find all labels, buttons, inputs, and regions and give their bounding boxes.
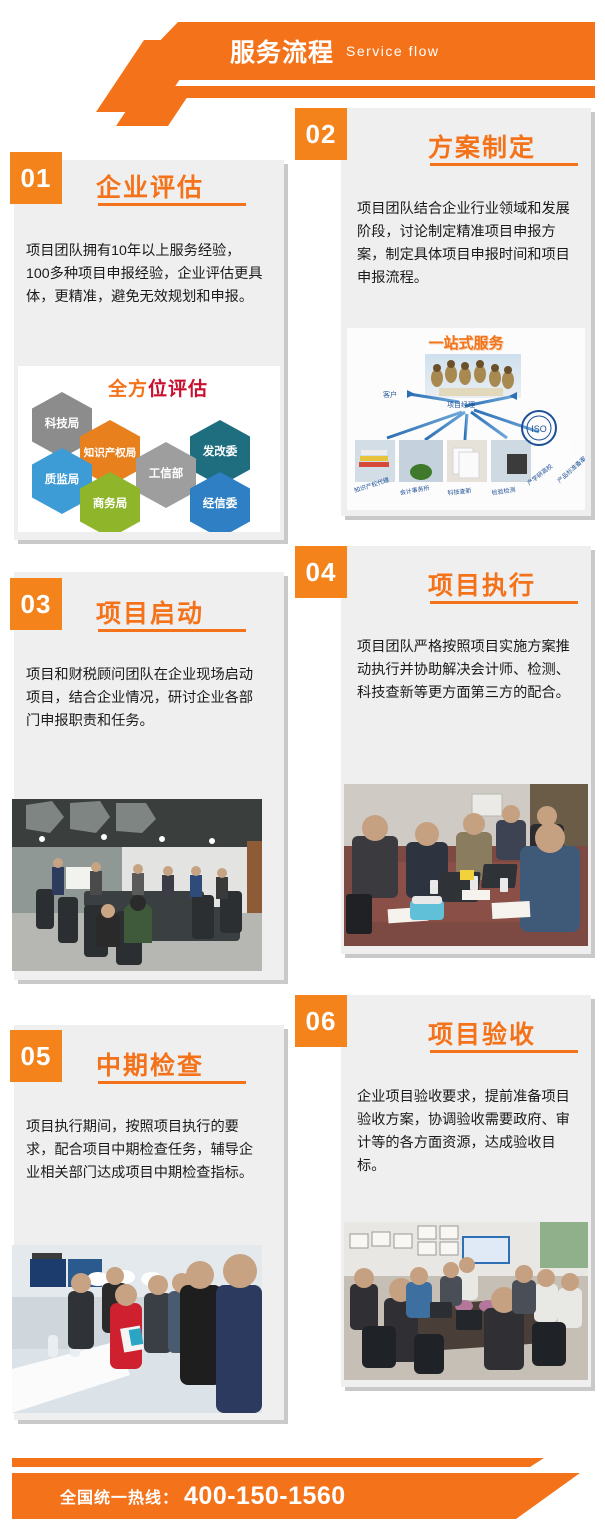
- card-01-title: 企业评估: [96, 168, 204, 204]
- card-02-title-rule: [430, 163, 578, 166]
- card-01-description: 项目团队拥有10年以上服务经验，100多种项目申报经验，企业评估更具体，更精准，…: [26, 240, 264, 309]
- page-footer: 全国统一热线： 400-150-1560: [0, 1418, 605, 1538]
- header-banner: 服务流程 Service flow: [130, 22, 595, 80]
- footer-hotline: 全国统一热线： 400-150-1560: [60, 1473, 346, 1519]
- svg-text:ISO: ISO: [531, 424, 547, 434]
- card-02-number-badge: 02: [295, 108, 347, 160]
- hex-title-part1: 全方: [108, 379, 148, 400]
- card-01-title-rule: [98, 203, 246, 206]
- card-02-description: 项目团队结合企业行业领域和发展阶段，讨论制定精准项目申报方案，制定具体项目申报时…: [357, 198, 579, 290]
- photo-acceptance-meeting: [344, 1222, 588, 1380]
- card-06-number-badge: 06: [295, 995, 347, 1047]
- onestop-diagram: 一站式服务: [347, 328, 585, 510]
- card-05-number-badge: 05: [10, 1030, 62, 1082]
- card-05-title: 中期检查: [96, 1046, 204, 1082]
- hex-title-part2: 位评估: [148, 379, 208, 400]
- card-02-title: 方案制定: [428, 128, 536, 164]
- footer-top-rule-diagonal: [470, 1458, 544, 1467]
- footer-hotline-number[interactable]: 400-150-1560: [184, 1482, 346, 1511]
- card-05-description: 项目执行期间，按照项目执行的要求，配合项目中期检查任务，辅导企业相关部门达成项目…: [26, 1116, 264, 1185]
- photo-meeting-room: [12, 799, 262, 971]
- card-06-title-rule: [430, 1050, 578, 1053]
- header-underbar: [146, 86, 595, 98]
- footer-top-rule: [12, 1458, 480, 1467]
- footer-bar-diagonal: [470, 1473, 580, 1519]
- footer-hotline-label: 全国统一热线：: [60, 1484, 179, 1508]
- card-03-title-rule: [98, 629, 246, 632]
- card-03-number-badge: 03: [10, 578, 62, 630]
- page-header: 服务流程 Service flow: [0, 0, 605, 112]
- page-subtitle: Service flow: [346, 43, 439, 59]
- card-03-description: 项目和财税顾问团队在企业现场启动项目，结合企业情况，研讨企业各部门申报职责和任务…: [26, 664, 264, 733]
- page-title: 服务流程: [230, 33, 334, 69]
- card-04-number-badge: 04: [295, 546, 347, 598]
- photo-showroom-tour: [12, 1245, 262, 1413]
- card-06-title: 项目验收: [428, 1015, 536, 1051]
- hex-diagram-title: 全方位评估: [108, 374, 208, 401]
- card-05-title-rule: [98, 1081, 246, 1084]
- card-01-number-badge: 01: [10, 152, 62, 204]
- photo-worksession: [344, 784, 588, 946]
- card-04-description: 项目团队严格按照项目实施方案推动执行并协助解决会计师、检测、科技查新等更方面第三…: [357, 636, 579, 705]
- card-04-title: 项目执行: [428, 566, 536, 602]
- onestop-client-label: 客户: [383, 390, 397, 400]
- card-06-description: 企业项目验收要求，提前准备项目验收方案，协调验收需要政府、审计等的各方面资源，达…: [357, 1086, 579, 1178]
- service-flow-infographic: 服务流程 Service flow 01 企业评估 项目团队拥有10年以上服务经…: [0, 0, 605, 1538]
- card-04-title-rule: [430, 601, 578, 604]
- hex-node-gongxinbu: 工信部: [136, 442, 196, 508]
- onestop-center-label: 项目经理: [447, 400, 475, 410]
- card-03-title: 项目启动: [96, 594, 204, 630]
- hex-node-jingxinwei: 经信委: [190, 472, 250, 532]
- hex-diagram: 全方位评估 科技局 知识产权局 发改委 质监局 工信部 商务局 经信委: [18, 366, 280, 532]
